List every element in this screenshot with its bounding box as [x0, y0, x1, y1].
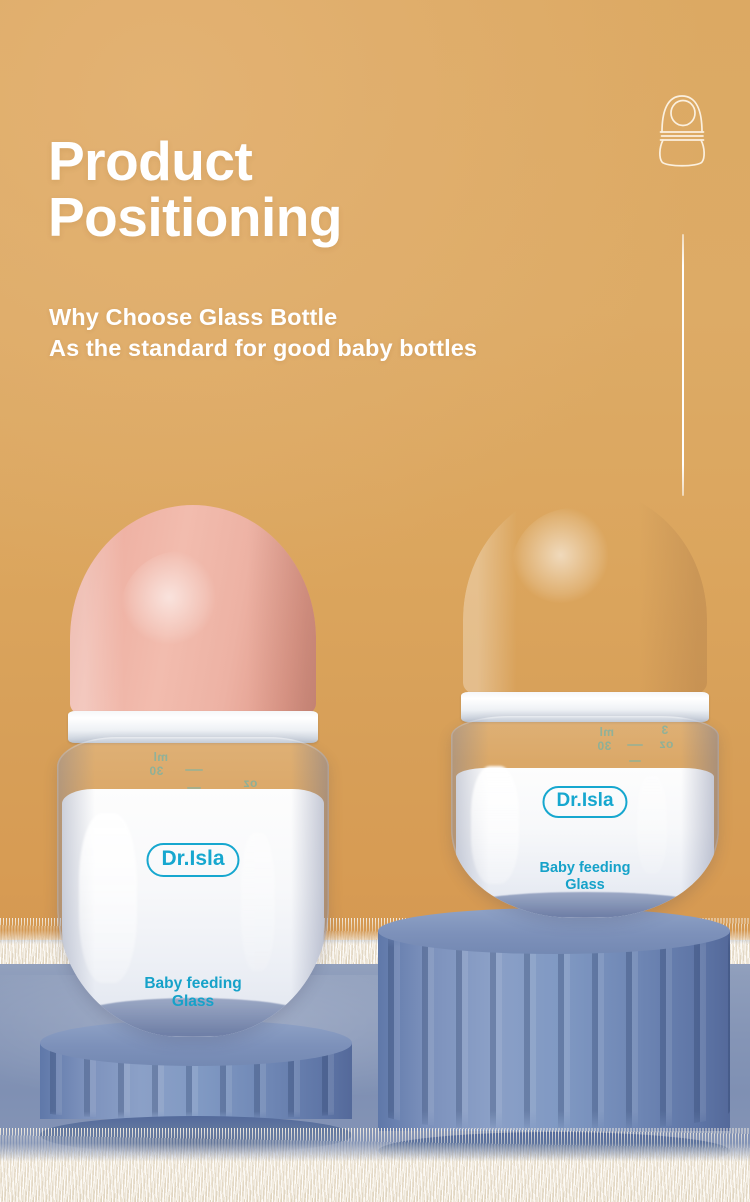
- bottle-glass-highlight-pink: [79, 813, 137, 983]
- bottle-logo-pink: Dr.Isla: [146, 843, 239, 877]
- pedestal-right-body: [378, 931, 730, 1131]
- product-bottle-pink[interactable]: ml 30 oz Dr.Isla Baby feeding Glass: [48, 505, 338, 1050]
- bottle-tagline-green: Baby feeding Glass: [539, 860, 630, 894]
- bottle-glass-shadow-right-pink: [291, 737, 329, 1037]
- bottle-measure-tick-green: [627, 744, 643, 746]
- bottle-measure-marks-pink: ml: [153, 751, 168, 764]
- bottle-measure-value-green: 30: [597, 740, 611, 753]
- bottle-measure-tick2-pink: [187, 787, 201, 789]
- bottle-measure-tick2-green: [629, 760, 641, 762]
- bottle-glass-base-green: [467, 892, 703, 918]
- page-subtitle: Why Choose Glass Bottle As the standard …: [49, 302, 477, 364]
- vertical-divider: [682, 234, 684, 496]
- bottle-logo-green: Dr.Isla: [542, 786, 627, 818]
- bottle-measure-value-pink: 30: [149, 765, 163, 778]
- product-positioning-banner: Product Positioning Why Choose Glass Bot…: [0, 0, 750, 1202]
- bottle-cap-pink: [70, 505, 316, 721]
- fur-strip-front: [0, 1143, 750, 1202]
- bottle-measure-tick-pink: [185, 769, 203, 771]
- bottle-glass-highlight-green: [471, 766, 519, 884]
- bottle-cap-shading-pink: [70, 505, 316, 721]
- bottle-measure-marks-green: ml: [599, 726, 614, 739]
- bottle-tagline-pink: Baby feeding Glass: [144, 975, 241, 1012]
- product-bottle-green[interactable]: ml 30 oz 3 Dr.Isla Baby feeding Glass: [440, 488, 730, 938]
- bottle-measure-oz-green: oz: [659, 738, 673, 751]
- pedestal-right-flutes: [378, 931, 730, 1131]
- bottle-glass-shadow-right-green: [681, 716, 719, 918]
- pedestal-right: [378, 908, 730, 1152]
- page-title: Product Positioning: [48, 133, 342, 245]
- bottle-glass-highlight2-green: [637, 776, 667, 874]
- bottle-measure-oz-value-green: 3: [661, 724, 668, 737]
- bottle-glass-highlight2-pink: [241, 833, 275, 971]
- bottle-cap-shading-green: [463, 488, 707, 700]
- bottle-cap-green: [463, 488, 707, 700]
- bottle-measure-oz-pink: oz: [243, 777, 257, 790]
- baby-bottle-outline-icon: [650, 92, 714, 168]
